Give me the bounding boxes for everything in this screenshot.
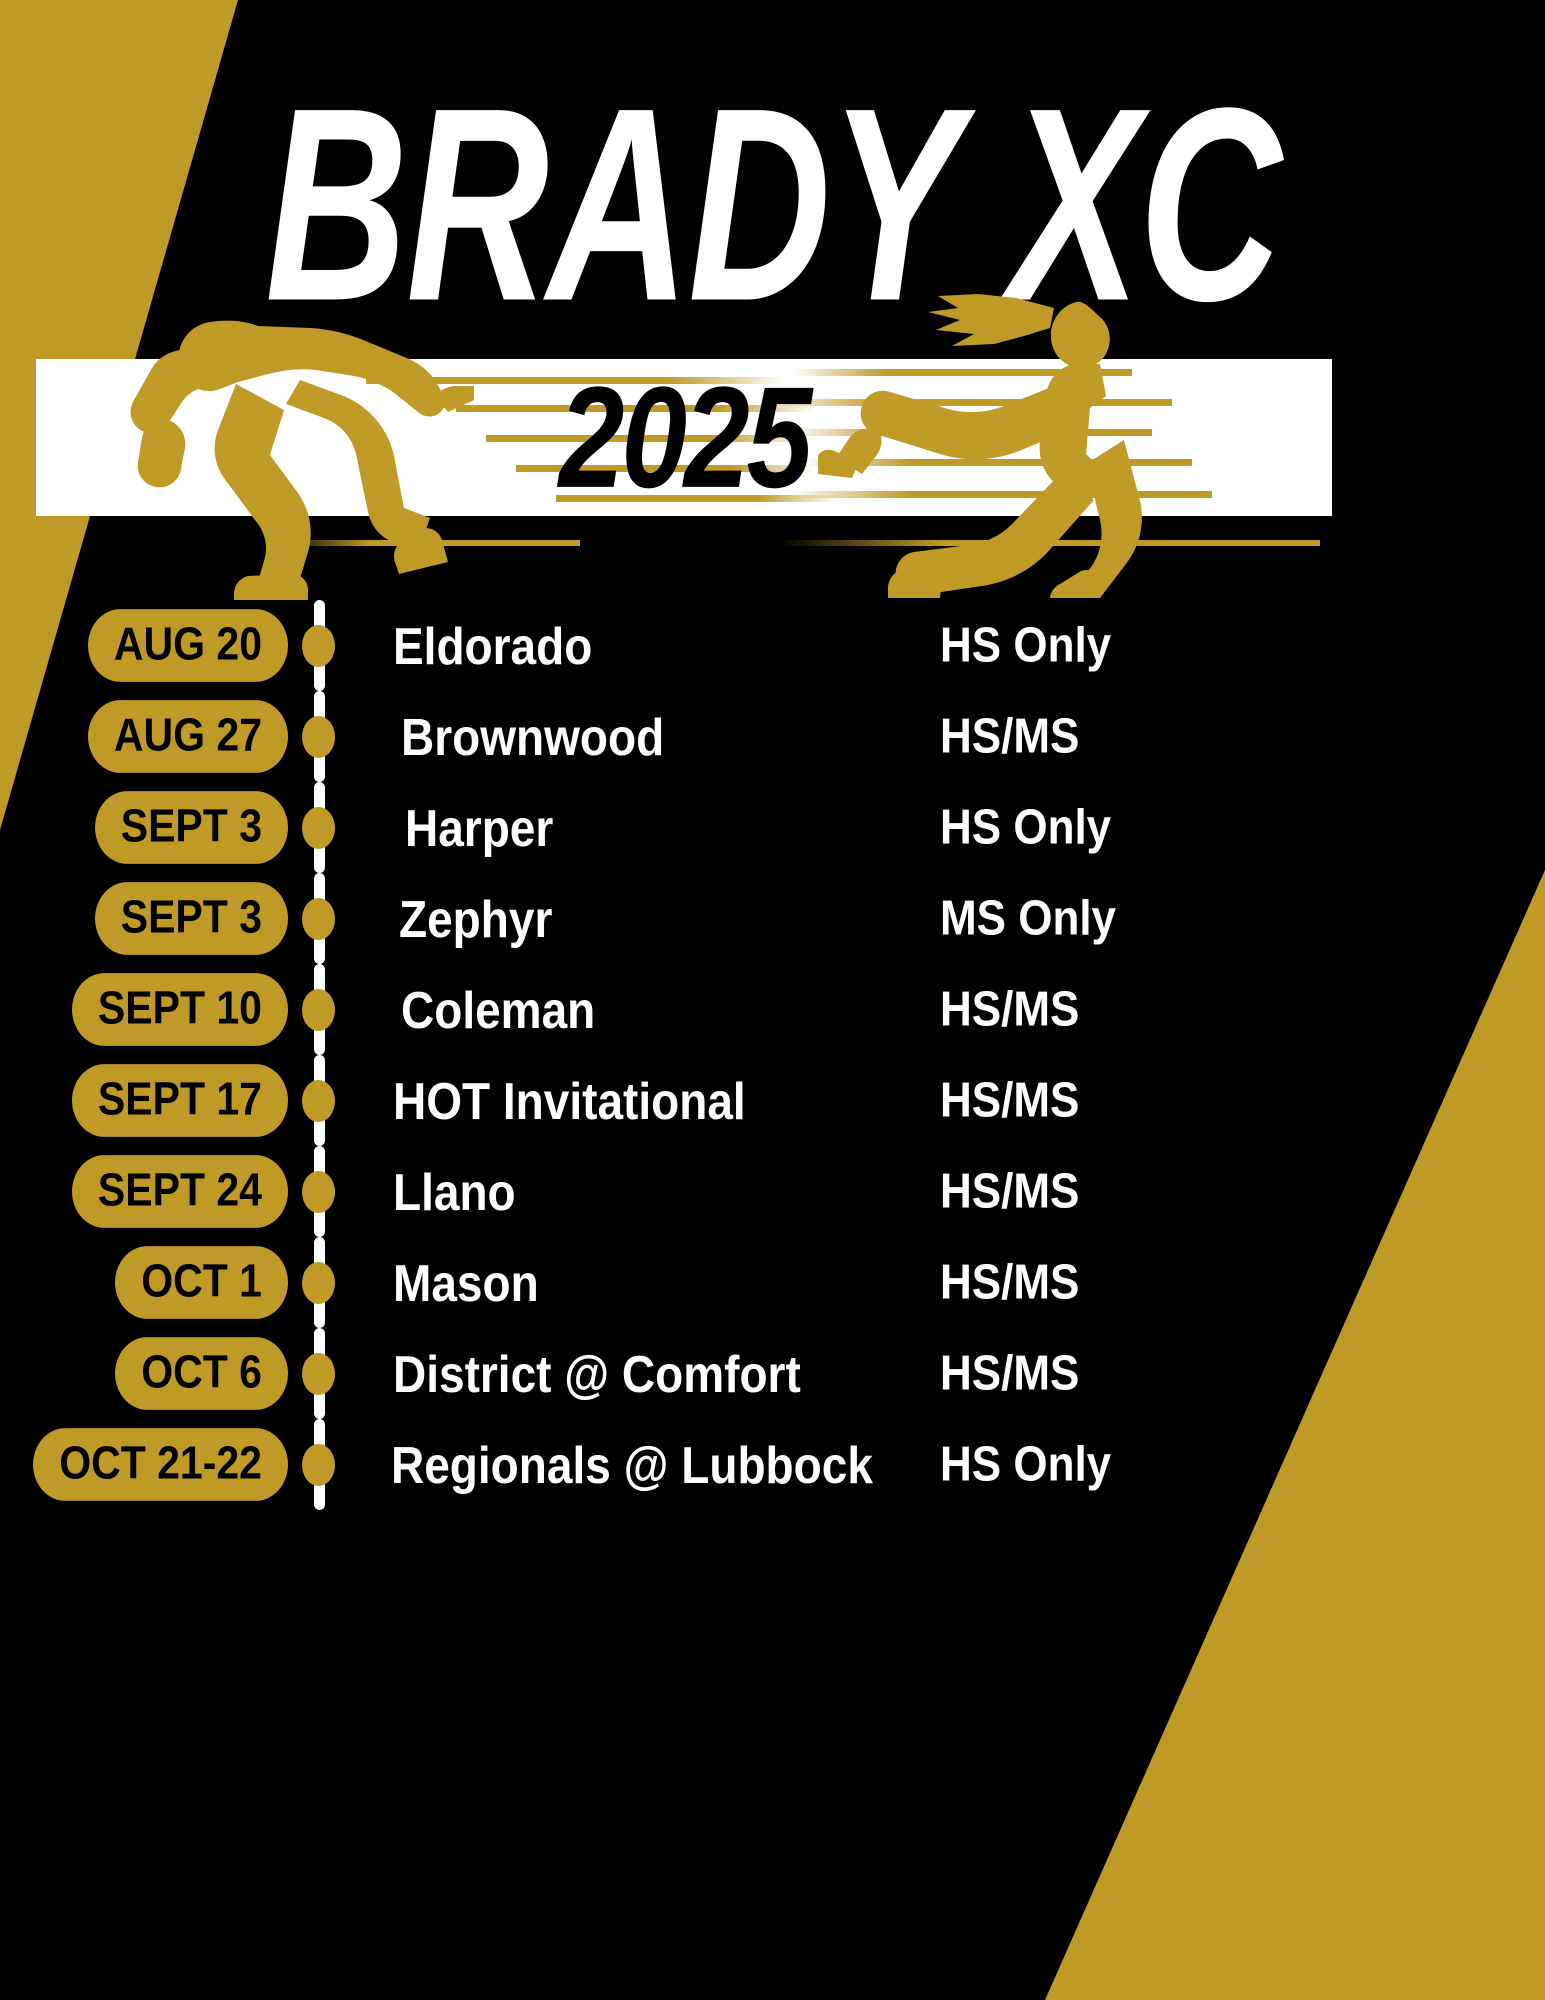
timeline-rail-left bbox=[311, 1146, 321, 1237]
level-label: HS/MS bbox=[898, 1164, 940, 1220]
timeline-rail-left bbox=[311, 782, 321, 873]
schedule-row: OCT 21-22 Regionals @ Lubbock HS Only bbox=[0, 1419, 1545, 1510]
timeline-dot bbox=[302, 716, 335, 758]
timeline-rail-left bbox=[311, 1237, 321, 1328]
timeline-rail-left bbox=[311, 964, 321, 1055]
timeline-dot bbox=[302, 898, 335, 940]
level-label: HS Only bbox=[898, 618, 940, 674]
schedule-row: OCT 1 Mason HS/MS bbox=[0, 1237, 1545, 1328]
xc-schedule-poster: BRADY XC 2025 bbox=[0, 0, 1545, 2000]
schedule-row: SEPT 3 Harper HS Only bbox=[0, 782, 1545, 873]
timeline-rail-right bbox=[866, 873, 876, 964]
level-label: HS Only bbox=[898, 1437, 940, 1493]
date-badge: SEPT 17 bbox=[72, 1064, 288, 1137]
date-badge: SEPT 24 bbox=[72, 1155, 288, 1228]
timeline-rail-left bbox=[311, 600, 321, 691]
timeline-rail-right bbox=[866, 964, 876, 1055]
female-runner-silhouette-icon bbox=[818, 278, 1168, 598]
timeline-rail-right bbox=[866, 691, 876, 782]
date-badge: OCT 6 bbox=[115, 1337, 288, 1410]
level-label: HS/MS bbox=[898, 982, 940, 1038]
event-name: Zephyr bbox=[343, 888, 843, 948]
timeline-rail-right bbox=[866, 1237, 876, 1328]
date-badge: OCT 1 bbox=[115, 1246, 288, 1319]
level-label: HS/MS bbox=[898, 1255, 940, 1311]
level-label: HS Only bbox=[898, 800, 940, 856]
schedule-row: SEPT 17 HOT Invitational HS/MS bbox=[0, 1055, 1545, 1146]
schedule-row: SEPT 24 Llano HS/MS bbox=[0, 1146, 1545, 1237]
schedule-row: SEPT 10 Coleman HS/MS bbox=[0, 964, 1545, 1055]
date-badge: AUG 27 bbox=[88, 700, 288, 773]
date-badge: SEPT 3 bbox=[95, 882, 288, 955]
level-label: MS Only bbox=[898, 891, 940, 947]
page-title: BRADY XC bbox=[62, 78, 1483, 331]
timeline-rail-right bbox=[866, 1328, 876, 1419]
schedule-list: AUG 20 Eldorado HS Only AUG 27 Brownwood… bbox=[0, 600, 1545, 1510]
level-label: HS/MS bbox=[898, 709, 940, 765]
schedule-row: SEPT 3 Zephyr MS Only bbox=[0, 873, 1545, 964]
event-name: Eldorado bbox=[343, 615, 843, 675]
timeline-rail-left bbox=[311, 1328, 321, 1419]
event-name: Coleman bbox=[343, 979, 843, 1039]
event-name: District @ Comfort bbox=[343, 1343, 843, 1403]
timeline-dot bbox=[302, 1171, 335, 1213]
timeline-rail-left bbox=[311, 1055, 321, 1146]
schedule-row: AUG 20 Eldorado HS Only bbox=[0, 600, 1545, 691]
level-label: HS/MS bbox=[898, 1073, 940, 1129]
timeline-dot bbox=[302, 807, 335, 849]
event-name: Llano bbox=[343, 1161, 843, 1221]
event-name: Brownwood bbox=[343, 706, 843, 766]
timeline-rail-right bbox=[866, 600, 876, 691]
timeline-dot bbox=[302, 989, 335, 1031]
timeline-rail-right bbox=[866, 782, 876, 873]
schedule-row: AUG 27 Brownwood HS/MS bbox=[0, 691, 1545, 782]
date-badge: OCT 21-22 bbox=[33, 1428, 288, 1501]
date-badge: SEPT 10 bbox=[72, 973, 288, 1046]
event-name: Regionals @ Lubbock bbox=[343, 1434, 843, 1494]
level-label: HS/MS bbox=[898, 1346, 940, 1402]
timeline-dot bbox=[302, 625, 335, 667]
timeline-rail-left bbox=[311, 1419, 321, 1510]
timeline-dot bbox=[302, 1080, 335, 1122]
timeline-rail-right bbox=[866, 1146, 876, 1237]
timeline-dot bbox=[302, 1262, 335, 1304]
date-badge: AUG 20 bbox=[88, 609, 288, 682]
event-name: Harper bbox=[343, 797, 843, 857]
date-badge: SEPT 3 bbox=[95, 791, 288, 864]
timeline-dot bbox=[302, 1353, 335, 1395]
male-runner-silhouette-icon bbox=[118, 300, 478, 600]
timeline-rail-right bbox=[866, 1419, 876, 1510]
timeline-dot bbox=[302, 1444, 335, 1486]
event-name: HOT Invitational bbox=[343, 1070, 843, 1130]
schedule-row: OCT 6 District @ Comfort HS/MS bbox=[0, 1328, 1545, 1419]
timeline-rail-left bbox=[311, 873, 321, 964]
event-name: Mason bbox=[343, 1252, 843, 1312]
timeline-rail-left bbox=[311, 691, 321, 782]
timeline-rail-right bbox=[866, 1055, 876, 1146]
